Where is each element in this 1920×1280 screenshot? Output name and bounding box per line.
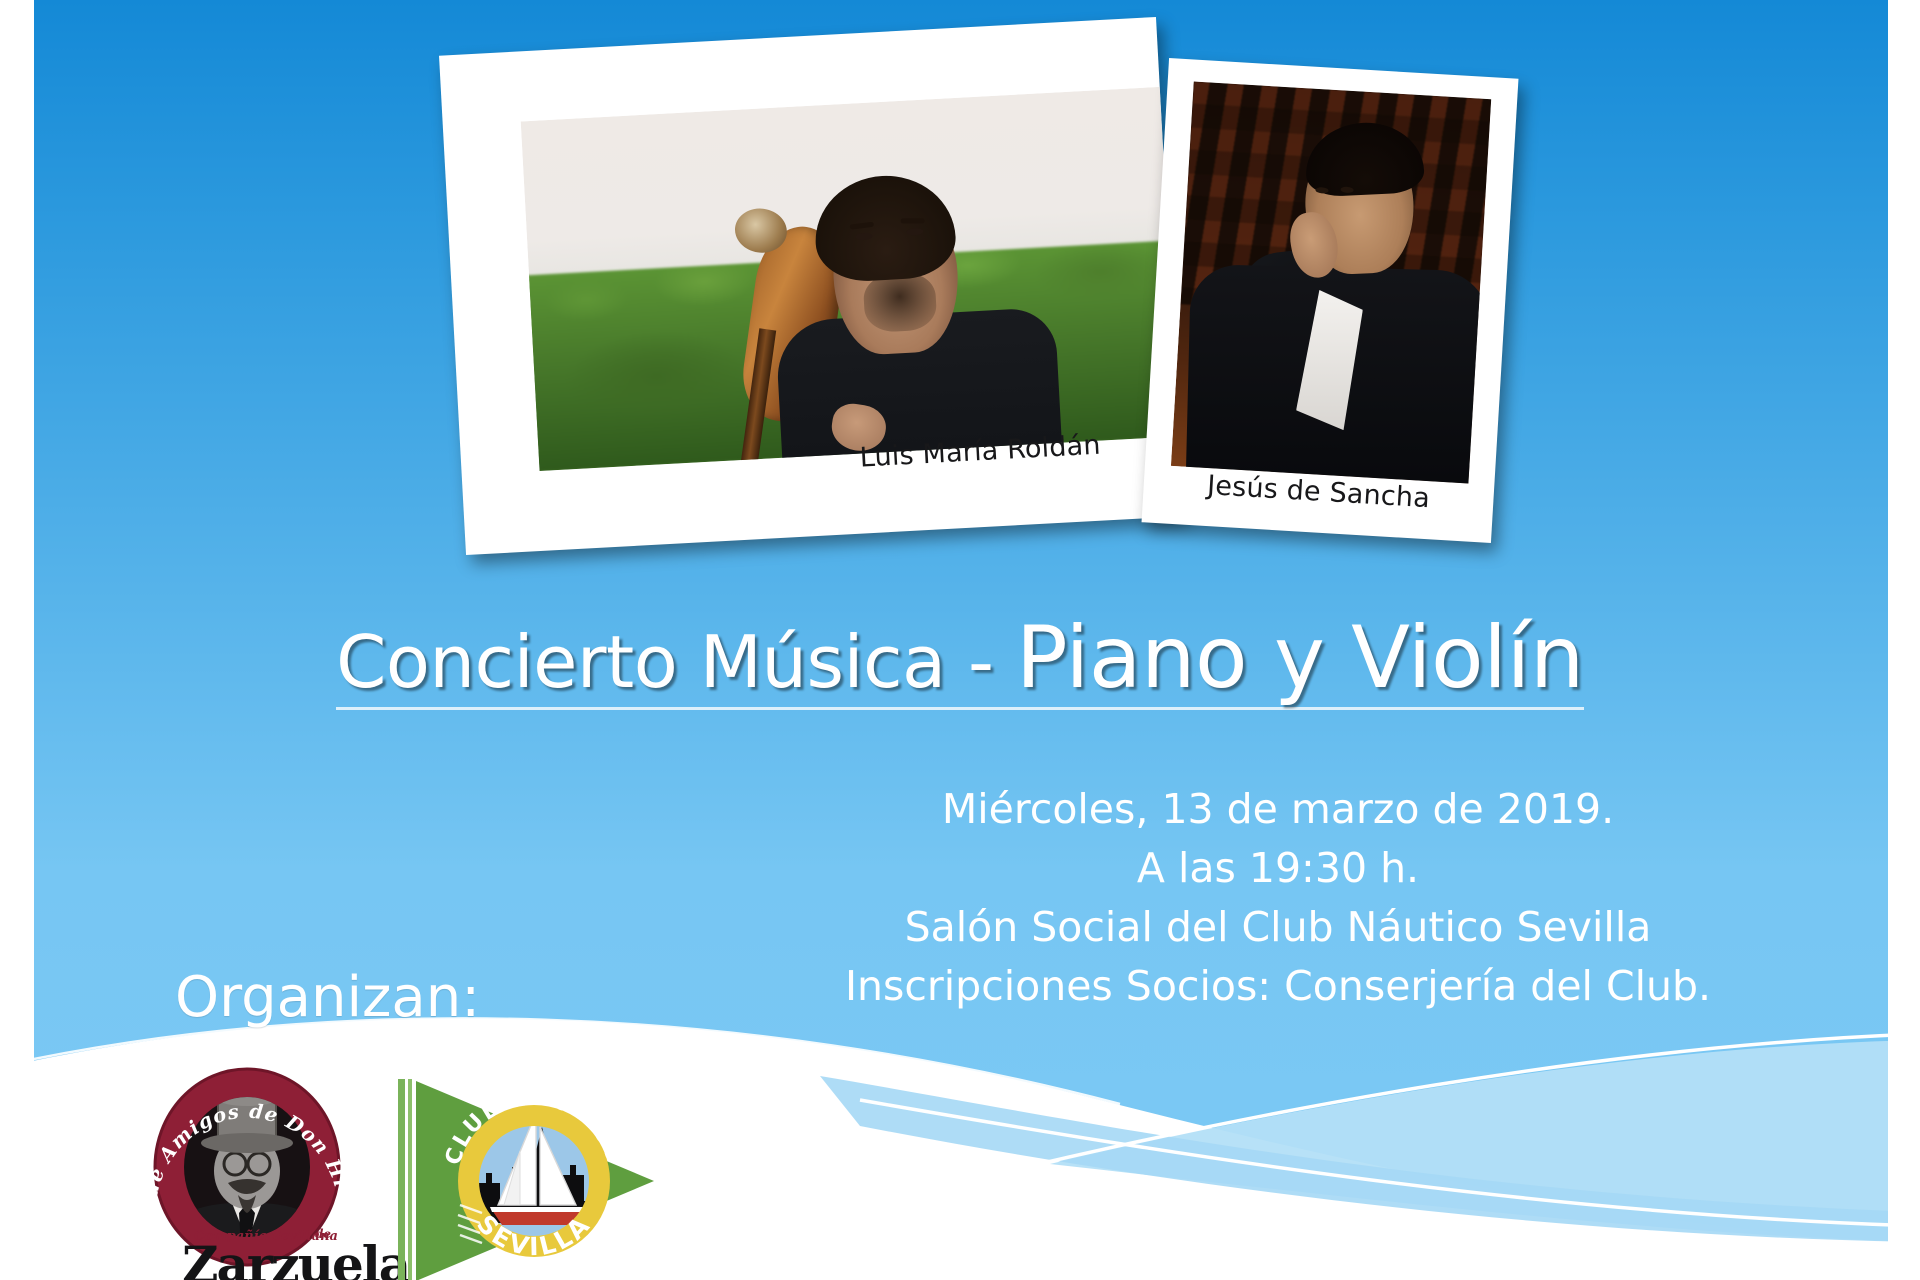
title-part-one: Concierto Música - [336, 620, 1016, 704]
violinist-hair [812, 172, 957, 283]
logo-nautico-pole [398, 1079, 405, 1280]
event-time-line: A las 19:30 h. [748, 839, 1808, 898]
logo-club-amigos-don-hilarion[interactable]: Club de Amigos de Don Hilarión Compañía … [128, 1063, 366, 1280]
violinist-eyebrow-right [901, 219, 925, 224]
logo-nautico-pole-highlight [408, 1079, 412, 1280]
poster-canvas: Luis María Roldán Jesús de Sancha Concie… [0, 0, 1920, 1280]
photo-image-pianist [1171, 82, 1491, 484]
logo-club-nautico-sevilla[interactable]: CLUB NÁUTICO SEVILLA [386, 1055, 676, 1280]
title-part-two: Piano y Violín [1016, 608, 1584, 708]
left-margin-bar [0, 0, 34, 1280]
pianist-scene [1171, 82, 1491, 484]
organizers-label: Organizan: [175, 965, 480, 1030]
event-date-line: Miércoles, 13 de marzo de 2019. [748, 780, 1808, 839]
violinist-scene [521, 87, 1179, 471]
logo-hilarion-sub-big: Zarzuela [182, 1240, 409, 1280]
event-registration-line: Inscripciones Socios: Conserjería del Cl… [748, 957, 1808, 1016]
page-title: Concierto Música - Piano y Violín [336, 615, 1584, 710]
logo-nautico-svg: CLUB NÁUTICO SEVILLA [386, 1055, 676, 1280]
event-details: Miércoles, 13 de marzo de 2019. A las 19… [748, 780, 1808, 1016]
photo-card-violinist: Luis María Roldán [439, 17, 1183, 555]
violinist-beard [862, 271, 937, 333]
photo-card-pianist: Jesús de Sancha [1142, 58, 1519, 543]
right-margin-bar [1888, 0, 1920, 1280]
photo-image-violinist [521, 87, 1179, 471]
title-container: Concierto Música - Piano y Violín [0, 615, 1920, 710]
event-venue-line: Salón Social del Club Náutico Sevilla [748, 898, 1808, 957]
organizer-logos: Club de Amigos de Don Hilarión Compañía … [128, 1055, 676, 1280]
